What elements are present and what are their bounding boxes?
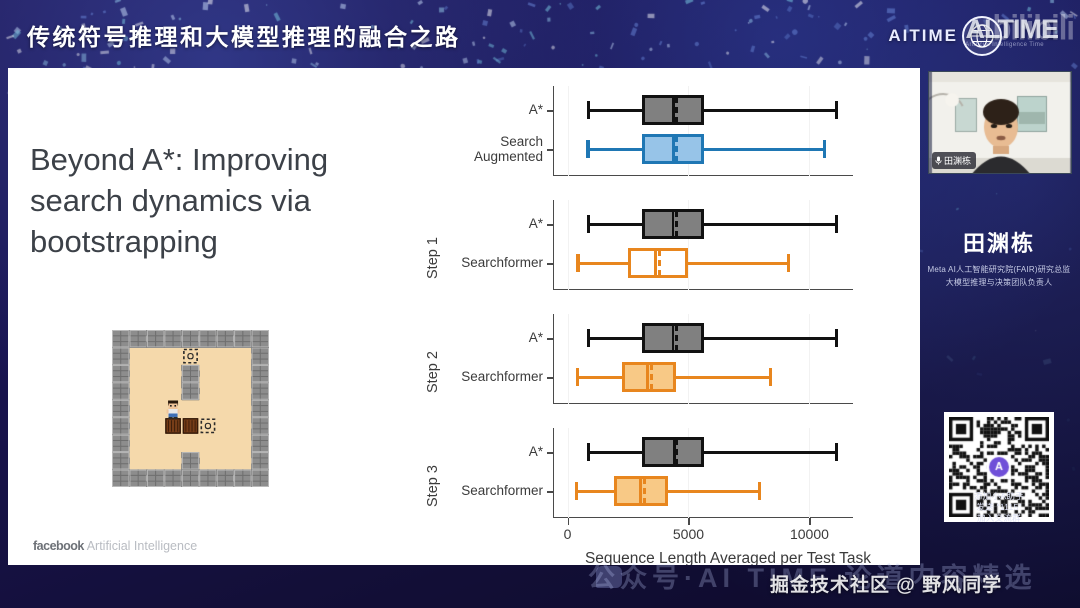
- whisker-cap-high: [823, 140, 826, 158]
- whisker-cap-low: [587, 215, 590, 233]
- boxplot-panel: A*Search Augmented: [553, 86, 853, 176]
- facebook-ai-logo: facebook Artificial Intelligence: [33, 539, 197, 553]
- whisker-cap-high: [835, 329, 838, 347]
- whisker-low: [577, 376, 622, 379]
- grid-line: [809, 314, 810, 404]
- whisker-high: [704, 109, 837, 112]
- x-axis-tick-label: 0: [564, 526, 572, 542]
- whisker-cap-low: [587, 329, 590, 347]
- axis-tick: [547, 377, 553, 379]
- whisker-cap-high: [787, 254, 790, 272]
- axis-tick: [547, 263, 553, 265]
- x-axis-tick: [688, 518, 690, 525]
- mean-line: [650, 364, 653, 390]
- whisker-cap-low: [576, 254, 579, 272]
- presentation-slide: Beyond A*: Improving search dynamics via…: [8, 68, 920, 565]
- whisker-high: [668, 490, 759, 493]
- boxplot-row-label: Searchformer: [461, 255, 543, 270]
- whisker-cap-high: [835, 101, 838, 119]
- mean-line: [675, 211, 678, 237]
- facebook-ai-suffix: Artificial Intelligence: [87, 539, 197, 553]
- webcam-badge-label: 田渊栋: [944, 154, 971, 167]
- whisker-low: [589, 223, 642, 226]
- whisker-cap-high: [758, 482, 761, 500]
- microphone-icon: [935, 156, 942, 165]
- foreground-watermark: 掘金技术社区 @ 野风同学: [770, 570, 1002, 597]
- x-axis-tick-label: 5000: [673, 526, 704, 542]
- axis-tick: [547, 338, 553, 340]
- boxplot-panel: Step 2A*Searchformer: [553, 314, 853, 404]
- boxplot-row-label: A*: [529, 444, 543, 459]
- boxplot-row-label: A*: [529, 216, 543, 231]
- boxplot-row-label: Searchformer: [461, 483, 543, 498]
- mean-line: [675, 97, 678, 123]
- whisker-low: [588, 148, 642, 151]
- panel-step-label: Step 1: [425, 237, 441, 279]
- whisker-low: [589, 109, 642, 112]
- boxplot-panel: Step 3A*Searchformer: [553, 428, 853, 518]
- whisker-high: [704, 148, 824, 151]
- x-axis-tick: [809, 518, 811, 525]
- median-line: [639, 476, 642, 506]
- qr-caption-line3: 加入交流群: [924, 512, 1074, 524]
- boxplot-chart: A*Search AugmentedStep 1A*SearchformerSt…: [393, 76, 913, 556]
- grid-line: [568, 86, 569, 176]
- header-bar: 传统符号推理和大模型推理的融合之路 AITIME ALTIME Artifici…: [0, 0, 1080, 66]
- whisker-low: [577, 490, 615, 493]
- x-axis-tick-label: 10000: [790, 526, 829, 542]
- whisker-cap-low: [586, 140, 589, 158]
- median-line: [672, 134, 675, 164]
- boxplot-row-label: Search Augmented: [474, 134, 543, 164]
- facebook-wordmark: facebook: [33, 539, 84, 553]
- whisker-high: [688, 262, 788, 265]
- boxplot-row-label: Searchformer: [461, 369, 543, 384]
- median-line: [646, 362, 649, 392]
- mean-line: [643, 478, 646, 504]
- boxplot-row-label: A*: [529, 330, 543, 345]
- whisker-cap-low: [576, 368, 579, 386]
- speaker-role-line2: 大模型推理与决策团队负责人: [924, 277, 1074, 288]
- bilibili-watermark: bilibili: [992, 7, 1074, 48]
- median-line: [672, 323, 675, 353]
- mean-line: [675, 136, 678, 162]
- webcam-name-badge: 田渊栋: [932, 152, 976, 169]
- speaker-role-line1: Meta AI人工智能研究院(FAIR)研究总监: [924, 264, 1074, 275]
- whisker-high: [704, 223, 837, 226]
- x-axis-tick: [568, 518, 570, 525]
- axis-tick: [547, 452, 553, 454]
- speaker-rail: 田渊栋 田渊栋 Meta AI人工智能研究院(FAIR)研究总监 大模型推理与决…: [924, 68, 1074, 565]
- whisker-high: [676, 376, 770, 379]
- whisker-low: [578, 262, 628, 265]
- webcam-video[interactable]: 田渊栋: [928, 71, 1072, 174]
- whisker-cap-high: [769, 368, 772, 386]
- grid-line: [568, 200, 569, 290]
- grid-line: [809, 428, 810, 518]
- boxplot-row-label: A*: [529, 102, 543, 117]
- mean-line: [675, 325, 678, 351]
- panel-step-label: Step 2: [425, 351, 441, 393]
- speaker-name: 田渊栋: [924, 226, 1074, 258]
- median-line: [654, 248, 657, 278]
- grid-line: [568, 428, 569, 518]
- panel-step-label: Step 3: [425, 465, 441, 507]
- grid-line: [568, 314, 569, 404]
- boxplot-panel: Step 1A*Searchformer: [553, 200, 853, 290]
- aitime-wordmark: AITIME: [888, 26, 958, 46]
- axis-tick: [547, 110, 553, 112]
- whisker-cap-high: [835, 443, 838, 461]
- axis-tick: [547, 491, 553, 493]
- mean-line: [658, 250, 661, 276]
- whisker-high: [704, 451, 837, 454]
- grid-line: [809, 86, 810, 176]
- grid-line: [809, 200, 810, 290]
- page-title: 传统符号推理和大模型推理的融合之路: [27, 18, 461, 52]
- whisker-cap-low: [587, 101, 590, 119]
- slide-title: Beyond A*: Improving search dynamics via…: [30, 140, 400, 263]
- sokoban-maze-illustration: [112, 330, 269, 487]
- axis-tick: [547, 149, 553, 151]
- median-line: [672, 209, 675, 239]
- whisker-low: [589, 337, 642, 340]
- whisker-cap-low: [587, 443, 590, 461]
- mean-line: [675, 439, 678, 465]
- axis-tick: [547, 224, 553, 226]
- whisker-low: [589, 451, 642, 454]
- whisker-high: [704, 337, 837, 340]
- whisker-cap-low: [575, 482, 578, 500]
- whisker-cap-high: [835, 215, 838, 233]
